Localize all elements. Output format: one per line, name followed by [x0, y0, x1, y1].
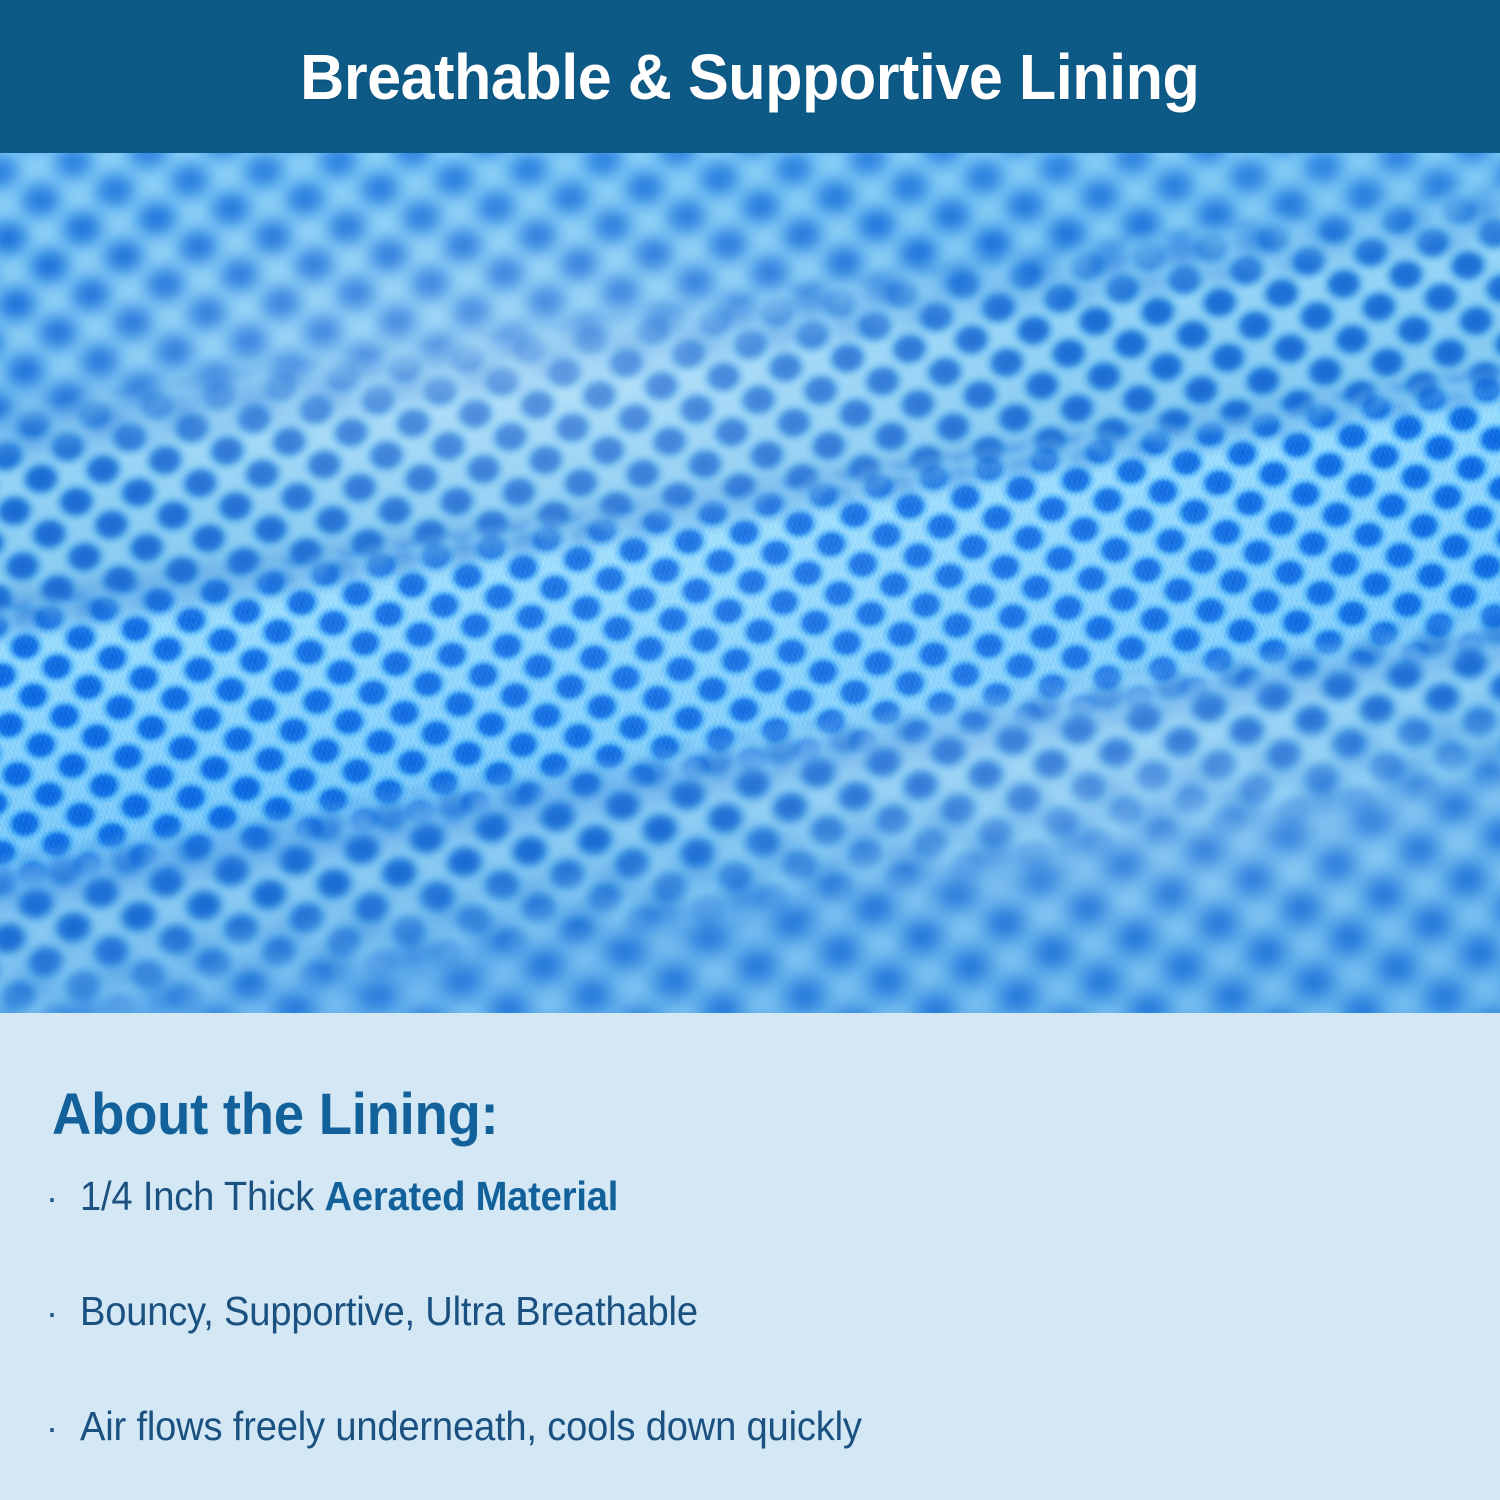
list-item: · Bouncy, Supportive, Ultra Breathable — [46, 1288, 1456, 1335]
feature-bullet-list: · 1/4 Inch Thick Aerated Material · Boun… — [46, 1173, 1456, 1450]
list-item: · Air flows freely underneath, cools dow… — [46, 1403, 1456, 1450]
list-item: · 1/4 Inch Thick Aerated Material — [46, 1173, 1456, 1220]
bullet-dot-icon: · — [46, 1410, 80, 1446]
bullet-text-lead: Bouncy, Supportive, Ultra Breathable — [80, 1288, 698, 1334]
bullet-text: Air flows freely underneath, cools down … — [80, 1403, 862, 1450]
bullet-text: Bouncy, Supportive, Ultra Breathable — [80, 1288, 698, 1335]
mesh-fabric-photo — [0, 153, 1500, 1013]
header-banner: Breathable & Supportive Lining — [0, 0, 1500, 153]
product-infographic: Breathable & Supportive Lining About the… — [0, 0, 1500, 1500]
panel-heading: About the Lining: — [52, 1081, 498, 1148]
bullet-text: 1/4 Inch Thick Aerated Material — [80, 1173, 618, 1220]
bullet-text-lead: Air flows freely underneath, cools down … — [80, 1403, 862, 1449]
about-lining-panel: About the Lining: · 1/4 Inch Thick Aerat… — [0, 1013, 1500, 1500]
header-title: Breathable & Supportive Lining — [300, 40, 1199, 114]
bullet-text-lead: 1/4 Inch Thick — [80, 1173, 324, 1219]
bullet-dot-icon: · — [46, 1295, 80, 1331]
bullet-dot-icon: · — [46, 1180, 80, 1216]
bullet-text-emphasis: Aerated Material — [324, 1173, 618, 1219]
